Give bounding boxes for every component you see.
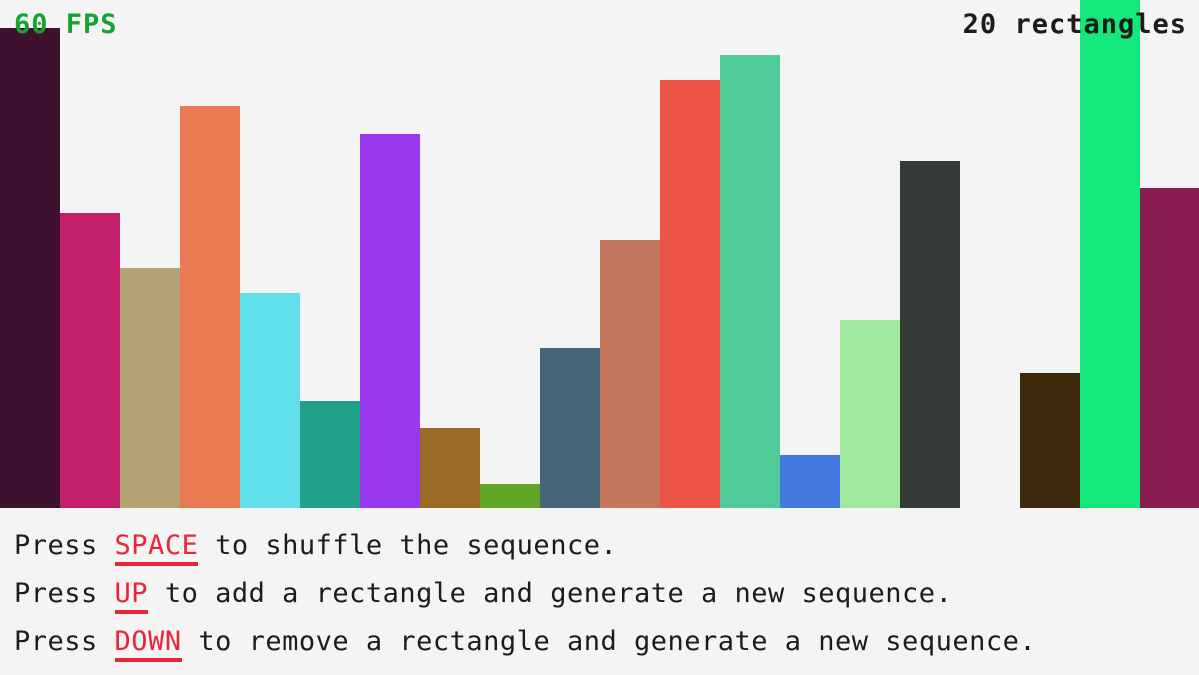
chart-bar bbox=[0, 28, 60, 508]
keyboard-key-down[interactable]: DOWN bbox=[115, 626, 182, 662]
instruction-prefix: Press bbox=[14, 578, 115, 609]
instruction-line: Press UP to add a rectangle and generate… bbox=[14, 570, 1199, 618]
chart-bar bbox=[480, 484, 540, 508]
instruction-suffix: to remove a rectangle and generate a new… bbox=[182, 626, 1037, 657]
chart-bar bbox=[120, 268, 180, 508]
instruction-prefix: Press bbox=[14, 530, 115, 561]
instructions-panel: Press SPACE to shuffle the sequence.Pres… bbox=[0, 508, 1199, 675]
instruction-suffix: to add a rectangle and generate a new se… bbox=[148, 578, 952, 609]
chart-bar bbox=[720, 55, 780, 508]
chart-bar bbox=[300, 401, 360, 508]
rectangle-chart bbox=[0, 0, 1199, 508]
keyboard-key-up[interactable]: UP bbox=[115, 578, 149, 614]
instruction-suffix: to shuffle the sequence. bbox=[198, 530, 617, 561]
chart-bar bbox=[420, 428, 480, 508]
chart-bar bbox=[600, 240, 660, 508]
rectangle-count-label: 20 rectangles bbox=[963, 8, 1187, 42]
keyboard-key-space[interactable]: SPACE bbox=[115, 530, 199, 566]
chart-bar bbox=[180, 106, 240, 508]
chart-bar bbox=[660, 80, 720, 508]
instruction-line: Press SPACE to shuffle the sequence. bbox=[14, 522, 1199, 570]
chart-bar bbox=[240, 293, 300, 508]
chart-bar bbox=[360, 134, 420, 508]
chart-bar bbox=[840, 320, 900, 508]
chart-bar bbox=[60, 213, 120, 508]
instruction-prefix: Press bbox=[14, 626, 115, 657]
chart-bar bbox=[540, 348, 600, 508]
chart-bar bbox=[900, 161, 960, 508]
chart-bar bbox=[1140, 188, 1199, 508]
fps-counter: 60 FPS bbox=[14, 8, 118, 42]
chart-bar bbox=[1020, 373, 1080, 508]
chart-bar bbox=[780, 455, 840, 508]
instruction-line: Press DOWN to remove a rectangle and gen… bbox=[14, 618, 1199, 666]
app-root: 60 FPS 20 rectangles Press SPACE to shuf… bbox=[0, 0, 1199, 675]
chart-bar bbox=[1080, 0, 1140, 508]
